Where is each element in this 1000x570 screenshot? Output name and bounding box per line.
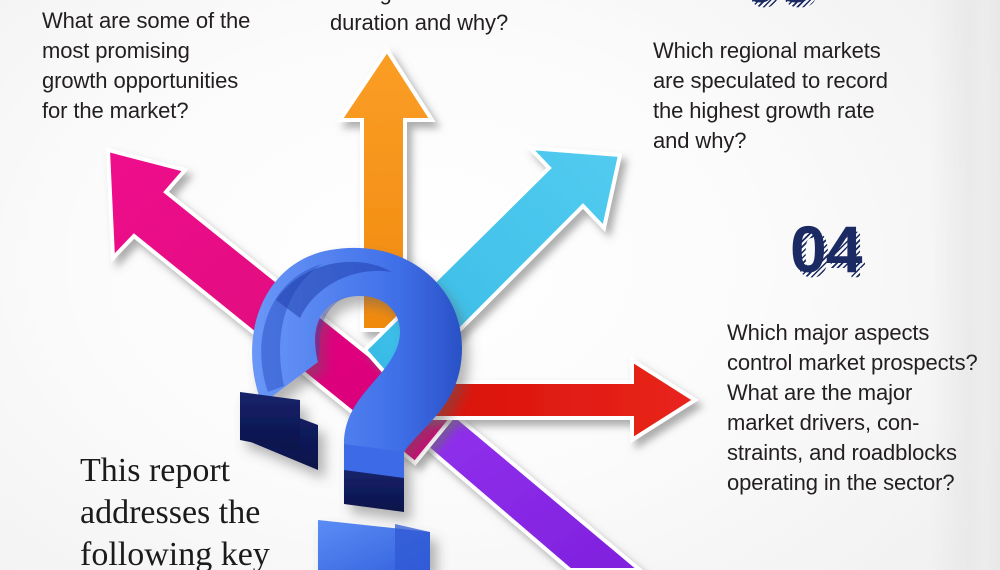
badge-03: 03 03: [742, 0, 813, 12]
red-arrow: [420, 360, 695, 440]
badge-04-label: 04: [790, 212, 861, 286]
badge-03-label: 03: [742, 0, 813, 16]
cyan-arrow: [365, 148, 620, 390]
badge-04: 04 04: [790, 216, 861, 282]
question-text-market-aspects: Which major aspects control market prosp…: [727, 318, 995, 498]
question-text-forecast-duration: through the forecast duration and why?: [330, 0, 590, 38]
orange-arrow: [340, 50, 432, 330]
question-text-growth-opportunities: What are some of the most promising grow…: [42, 6, 312, 126]
purple-arrow: [395, 400, 640, 570]
question-text-regional-markets: Which regional markets are speculated to…: [653, 36, 953, 156]
pink-arrow: [108, 150, 450, 463]
infographic-canvas: 03 03 04 04 What are some of the most pr…: [0, 0, 1000, 570]
intro-heading: This report addresses the following key: [80, 450, 380, 570]
